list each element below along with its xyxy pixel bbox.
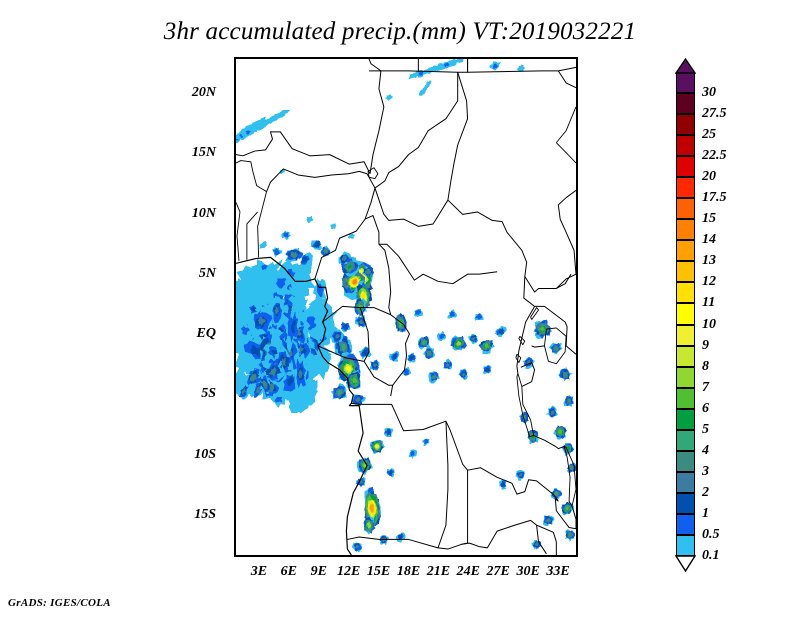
precip-cell: [558, 367, 572, 381]
x-axis-tick: [320, 555, 322, 557]
colorbar-label: 22.5: [702, 148, 727, 164]
precip-cell: [499, 480, 507, 490]
y-axis-label: 10S: [194, 447, 216, 463]
precip-cell: [396, 533, 406, 543]
x-axis-label: 30E: [516, 564, 539, 580]
colorbar-segment: [676, 535, 695, 556]
x-axis-tick: [350, 555, 352, 557]
y-axis-label: 15N: [192, 145, 216, 161]
colorbar-segment: [676, 388, 695, 409]
x-axis-label: 18E: [397, 564, 420, 580]
colorbar-label: 30: [702, 85, 716, 101]
precip-cell: [426, 81, 432, 89]
colorbar-segment: [676, 346, 695, 367]
precip-cell: [516, 470, 525, 481]
colorbar-label: 11: [702, 295, 715, 311]
precip-cell: [423, 346, 435, 359]
colorbar-over-arrow-outline: [675, 58, 696, 74]
colorbar-segment: [676, 93, 695, 114]
precip-cell: [384, 428, 394, 437]
x-axis-label: 33E: [546, 564, 569, 580]
precip-cell: [562, 443, 574, 456]
x-axis-label: 15E: [367, 564, 390, 580]
colorbar-label: 14: [702, 232, 716, 248]
y-axis-tick: [234, 154, 236, 156]
footer-credit: GrADS: IGES/COLA: [8, 597, 111, 609]
precip-cell: [259, 241, 267, 249]
precip-cell: [564, 395, 574, 406]
precip-cell: [341, 322, 351, 333]
precip-cell: [551, 488, 562, 501]
precip-cell: [331, 383, 347, 399]
colorbar-segment: [676, 430, 695, 451]
precip-cell: [348, 233, 355, 239]
precip-cell: [447, 309, 457, 318]
y-axis-tick: [234, 94, 236, 96]
x-axis-label: 6E: [281, 564, 297, 580]
colorbar-label: 20: [702, 169, 716, 185]
precip-cell: [409, 449, 418, 458]
precip-cell: [389, 351, 399, 362]
precip-cell: [395, 313, 407, 333]
precip-cell: [352, 543, 362, 553]
colorbar-segment: [676, 303, 695, 324]
colorbar-label: 12: [702, 274, 716, 290]
precip-cell: [272, 247, 282, 257]
precip-cell: [357, 457, 373, 476]
precip-cell: [385, 94, 393, 100]
x-axis-tick: [559, 555, 561, 557]
colorbar-segment: [676, 156, 695, 177]
colorbar-segment: [676, 177, 695, 198]
y-axis-tick: [234, 275, 236, 277]
x-axis-label: 12E: [337, 564, 360, 580]
precip-cell: [478, 340, 494, 354]
colorbar-label: 0.5: [702, 527, 720, 543]
precip-cell: [355, 315, 367, 327]
x-axis-tick: [439, 555, 441, 557]
precip-cell: [414, 309, 423, 317]
precip-cell: [307, 216, 314, 223]
precip-cell: [359, 346, 372, 359]
precip-cell: [543, 515, 555, 526]
x-axis-tick: [409, 555, 411, 557]
x-axis-tick: [290, 555, 292, 557]
precip-cell: [468, 334, 478, 345]
precip-cell: [533, 320, 552, 340]
precip-cell: [443, 358, 452, 369]
precip-cell: [450, 335, 467, 350]
y-axis-labels: 20N15N10N5NEQ5S10S15S: [0, 0, 234, 618]
colorbar-label: 15: [702, 211, 716, 227]
precip-cell: [553, 425, 567, 440]
x-axis-tick: [499, 555, 501, 557]
y-axis-label: 20N: [192, 85, 216, 101]
y-axis-tick: [234, 516, 236, 518]
colorbar-segment: [676, 282, 695, 303]
precip-cell: [370, 440, 385, 454]
x-axis-tick: [529, 555, 531, 557]
y-axis-tick: [234, 215, 236, 217]
colorbar-label: 25: [702, 127, 716, 143]
colorbar-segment: [676, 325, 695, 346]
precip-cell: [370, 359, 380, 370]
precip-cell: [527, 430, 538, 444]
x-axis-tick: [380, 555, 382, 557]
precip-cell: [279, 169, 285, 174]
precip-cell: [387, 468, 395, 477]
colorbar-label: 9: [702, 338, 709, 354]
map-plot-area: [234, 57, 578, 557]
colorbar-segment: [676, 367, 695, 388]
colorbar-label: 13: [702, 253, 716, 269]
precip-cell: [379, 535, 389, 545]
colorbar-under-arrow-outline: [675, 555, 696, 572]
colorbar-segment: [676, 472, 695, 493]
y-axis-tick: [234, 395, 236, 397]
colorbar-label: 10: [702, 317, 716, 333]
x-axis-label: 9E: [311, 564, 327, 580]
x-axis-tick: [469, 555, 471, 557]
precip-cell: [356, 477, 366, 487]
colorbar-segment: [676, 451, 695, 472]
precip-cell: [523, 357, 535, 369]
colorbar: 0.10.512345678910111213141517.52022.5252…: [676, 72, 695, 556]
precip-cell: [422, 438, 430, 446]
precip-cell: [565, 529, 575, 541]
precip-cell: [428, 371, 440, 383]
y-axis-label: 5N: [199, 266, 216, 282]
y-axis-label: 10N: [192, 206, 216, 222]
colorbar-label: 6: [702, 401, 709, 417]
y-axis-label: EQ: [197, 326, 216, 342]
precip-cell: [567, 462, 576, 473]
colorbar-label: 0.1: [702, 548, 720, 564]
colorbar-segment: [676, 114, 695, 135]
colorbar-label: 8: [702, 359, 709, 375]
x-axis-label: 27E: [487, 564, 510, 580]
colorbar-segment: [676, 219, 695, 240]
colorbar-label: 4: [702, 443, 709, 459]
precip-cell: [330, 223, 336, 229]
precip-cell: [311, 240, 323, 250]
colorbar-label: 2: [702, 485, 709, 501]
precip-cell: [490, 61, 501, 70]
x-axis-tick: [260, 555, 262, 557]
colorbar-segment: [676, 135, 695, 156]
precip-cell: [351, 394, 366, 407]
precip-cell: [320, 245, 330, 256]
y-axis-tick: [234, 456, 236, 458]
colorbar-label: 7: [702, 380, 709, 396]
colorbar-label: 17.5: [702, 190, 727, 206]
x-axis-label: 24E: [457, 564, 480, 580]
y-axis-label: 15S: [194, 507, 216, 523]
precip-cell: [483, 365, 491, 375]
precip-cell: [354, 298, 366, 316]
y-axis-tick: [234, 335, 236, 337]
y-axis-label: 5S: [201, 386, 216, 402]
colorbar-segment: [676, 198, 695, 219]
colorbar-segment: [676, 240, 695, 261]
colorbar-segment: [676, 261, 695, 282]
precipitation-field: [236, 59, 576, 555]
precip-cell: [531, 540, 541, 550]
precip-cell: [458, 369, 467, 381]
colorbar-label: 5: [702, 422, 709, 438]
precip-cell: [407, 352, 417, 363]
precip-cell: [475, 313, 484, 320]
precip-cell: [402, 367, 412, 376]
precip-cell: [455, 59, 464, 63]
x-axis-label: 3E: [251, 564, 267, 580]
precip-cell: [549, 343, 562, 355]
precip-cell: [281, 230, 291, 240]
colorbar-segment: [676, 514, 695, 535]
precip-cell: [561, 502, 574, 515]
colorbar-segment: [676, 493, 695, 514]
precip-cell: [495, 326, 507, 337]
colorbar-label: 1: [702, 506, 709, 522]
colorbar-segment: [676, 72, 695, 93]
precip-cell: [519, 411, 529, 423]
x-axis-label: 21E: [427, 564, 450, 580]
precip-cell: [546, 406, 558, 418]
colorbar-label: 3: [702, 464, 709, 480]
precip-cell: [437, 331, 446, 341]
colorbar-segment: [676, 409, 695, 430]
colorbar-label: 27.5: [702, 106, 727, 122]
precip-cell: [516, 65, 525, 72]
